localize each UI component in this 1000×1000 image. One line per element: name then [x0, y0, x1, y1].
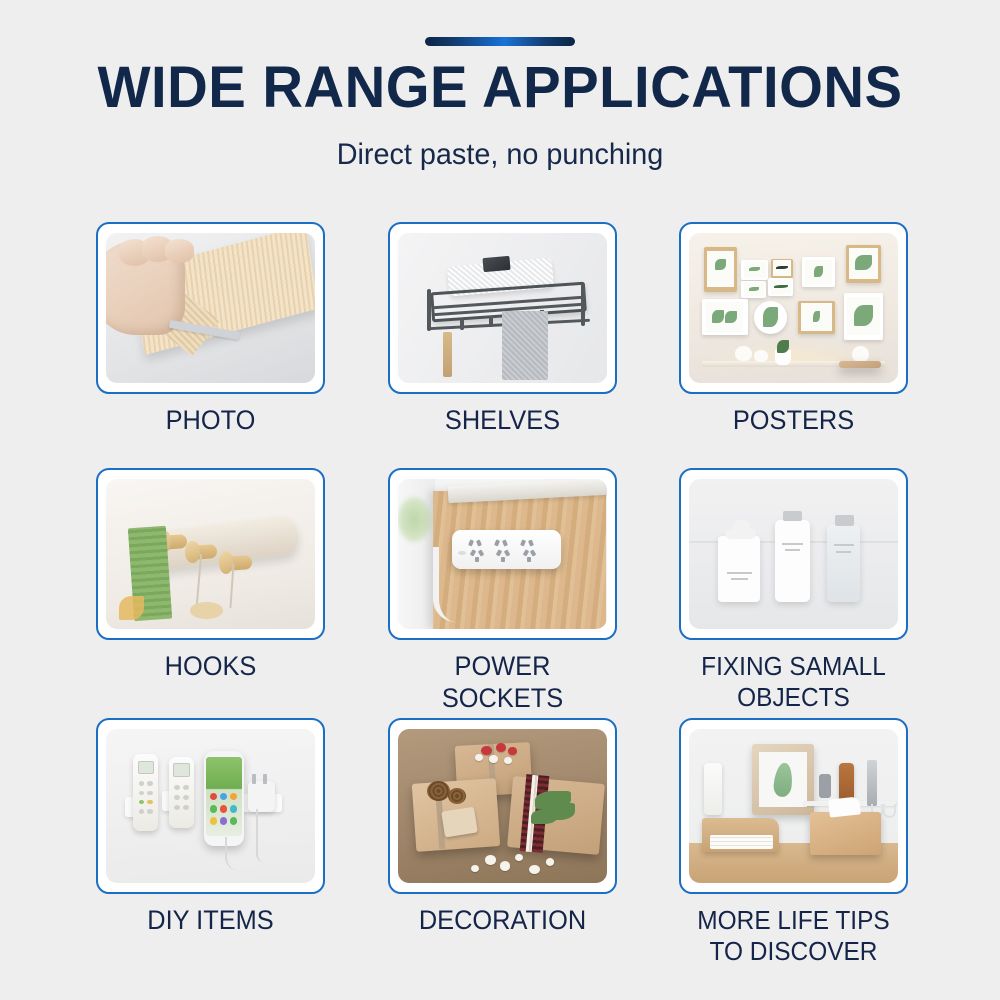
- page-title: WIDE RANGE APPLICATIONS: [15, 58, 985, 119]
- card-frame: [679, 468, 908, 640]
- remotes-and-phone-wall-holders-illustration: [106, 729, 315, 883]
- card-power-sockets[interactable]: POWER SOCKETS: [388, 468, 617, 715]
- card-caption: SHELVES: [394, 405, 609, 437]
- card-shelves[interactable]: SHELVES: [388, 222, 617, 437]
- card-diy-items[interactable]: DIY ITEMS: [96, 718, 325, 966]
- card-caption: DIY ITEMS: [103, 905, 318, 937]
- card-caption: POSTERS: [686, 405, 901, 437]
- posters-thumbnail: [689, 233, 898, 383]
- photo-thumbnail: [106, 233, 315, 383]
- card-frame: [388, 468, 617, 640]
- card-caption: FIXING SAMALL OBJECTS: [686, 651, 901, 712]
- card-frame: [96, 468, 325, 640]
- card-row-2: HOOKS: [96, 468, 908, 715]
- card-hooks[interactable]: HOOKS: [96, 468, 325, 715]
- card-row-3: DIY ITEMS: [96, 718, 908, 966]
- page-subtitle: Direct paste, no punching: [20, 138, 980, 172]
- diy-items-thumbnail: [106, 729, 315, 883]
- card-decoration[interactable]: DECORATION: [388, 718, 617, 966]
- wooden-wall-hook-rail-illustration: [106, 479, 315, 629]
- gallery-wall-picture-frames-illustration: [689, 233, 898, 383]
- card-photo[interactable]: PHOTO: [96, 222, 325, 437]
- card-frame: [679, 222, 908, 394]
- card-caption: DECORATION: [394, 905, 609, 937]
- card-more-life-tips[interactable]: MORE LIFE TIPS TO DISCOVER: [679, 718, 908, 966]
- wrapped-gift-boxes-illustration: [398, 729, 607, 883]
- hooks-thumbnail: [106, 479, 315, 629]
- power-strip-on-cabinet-illustration: [398, 479, 607, 629]
- card-caption: PHOTO: [103, 405, 318, 437]
- infographic-page: WIDE RANGE APPLICATIONS Direct paste, no…: [0, 0, 1000, 1000]
- shelves-thumbnail: [398, 233, 607, 383]
- card-frame: [96, 222, 325, 394]
- three-bathroom-bottles-illustration: [689, 479, 898, 629]
- more-life-tips-thumbnail: [689, 729, 898, 883]
- card-caption: POWER SOCKETS: [394, 651, 609, 715]
- desk-wall-organizer-scene-illustration: [689, 729, 898, 883]
- card-frame: [679, 718, 908, 894]
- card-posters[interactable]: POSTERS: [679, 222, 908, 437]
- card-caption: HOOKS: [103, 651, 318, 683]
- accent-bar: [425, 37, 575, 46]
- hand-holding-wooden-frame-photo-illustration: [106, 233, 315, 383]
- card-fixing-small-objects[interactable]: FIXING SAMALL OBJECTS: [679, 468, 908, 715]
- wall-mounted-towel-rack-shelf-illustration: [398, 233, 607, 383]
- fixing-small-objects-thumbnail: [689, 479, 898, 629]
- power-sockets-thumbnail: [398, 479, 607, 629]
- card-frame: [388, 718, 617, 894]
- decoration-thumbnail: [398, 729, 607, 883]
- card-row-1: PHOTO: [96, 222, 908, 437]
- card-frame: [388, 222, 617, 394]
- card-caption: MORE LIFE TIPS TO DISCOVER: [686, 905, 901, 966]
- card-frame: [96, 718, 325, 894]
